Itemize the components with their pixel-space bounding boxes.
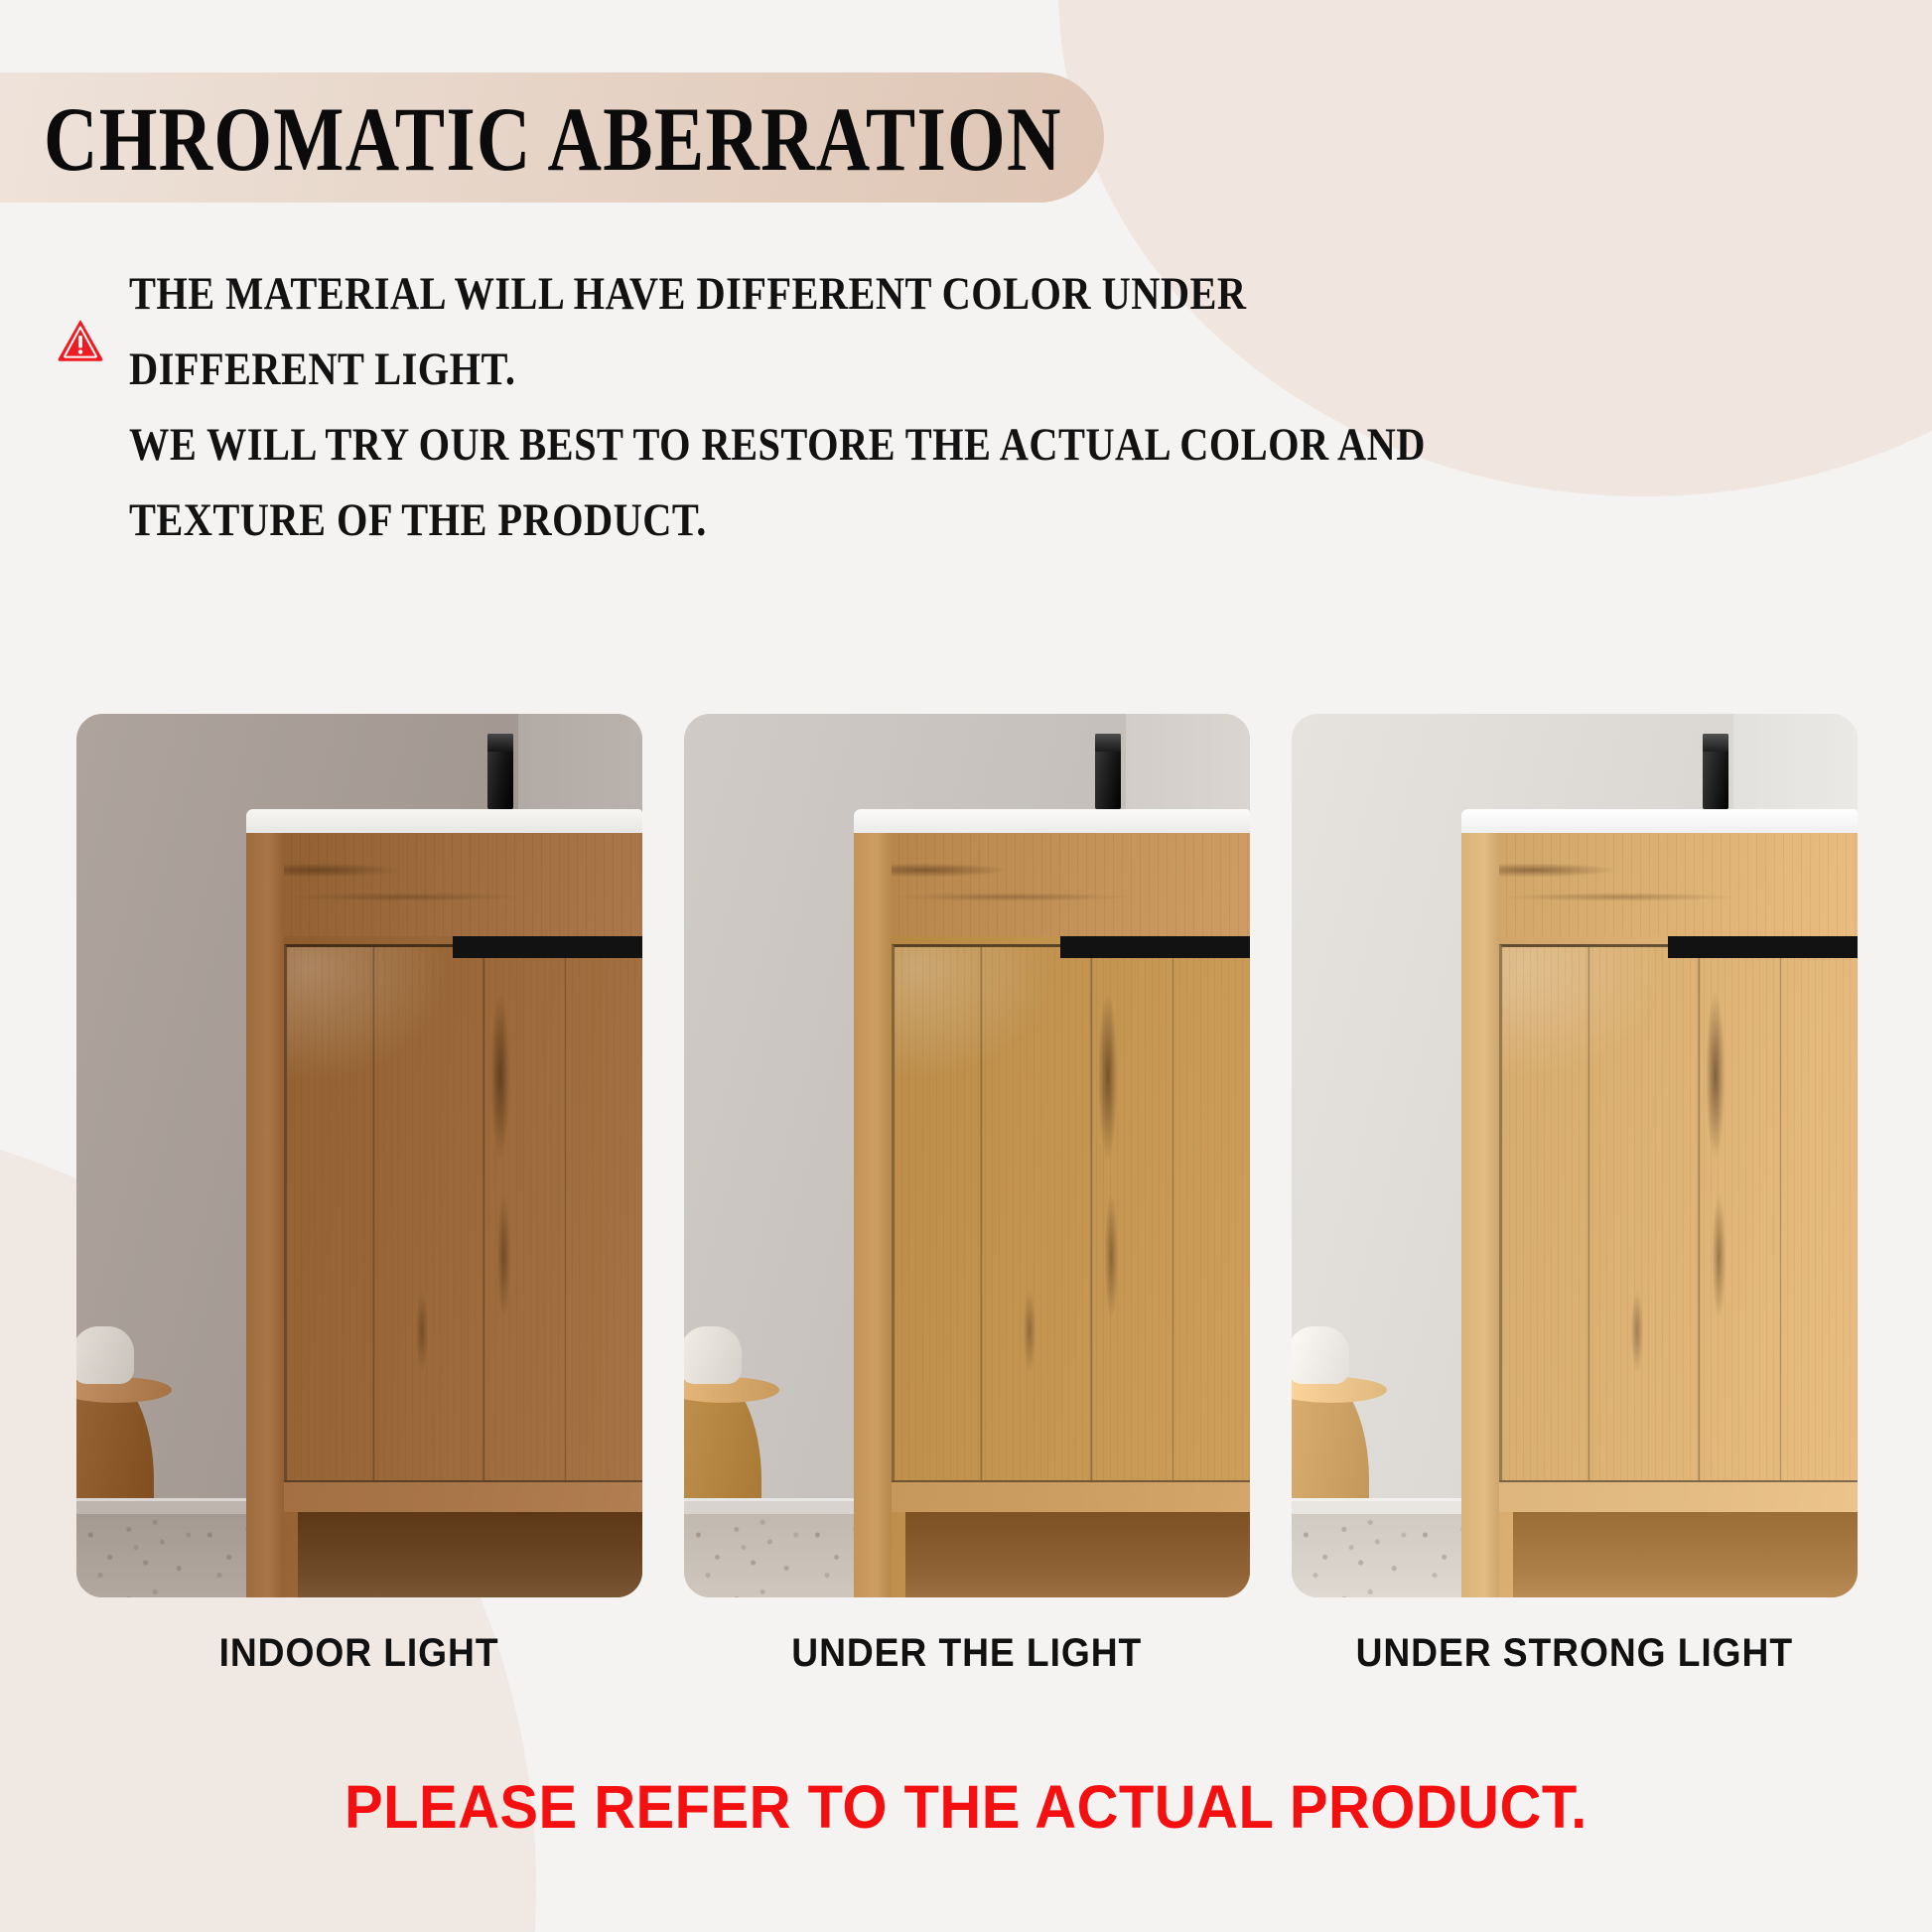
scene-faucet-head: [487, 734, 513, 752]
page-title: CHROMATIC ABERRATION: [44, 89, 1062, 189]
scene-cabinet-handle[interactable]: [1668, 936, 1858, 958]
scene-grain-door: [895, 947, 1250, 1480]
caption-under-strong-light: UNDER STRONG LIGHT: [1292, 1618, 1858, 1688]
scene-grain-top: [1461, 833, 1858, 936]
scene-cabinet-side-stile: [1461, 833, 1499, 1597]
notice-line-3: WE WILL TRY OUR BEST TO RESTORE THE ACTU…: [129, 407, 1179, 483]
scene-vanity-cabinet: [246, 833, 642, 1597]
scene-cabinet-handle[interactable]: [453, 936, 642, 958]
scene-cabinet-toe-kick: [1513, 1512, 1858, 1597]
footer-disclaimer: PLEASE REFER TO THE ACTUAL PRODUCT.: [0, 1764, 1932, 1850]
infographic-canvas: CHROMATIC ABERRATION THE MATERIAL WILL H…: [0, 0, 1932, 1932]
comparison-photo-strip: [76, 714, 1859, 1597]
scene-grain-top: [246, 833, 642, 936]
scene-cabinet-door: [1499, 944, 1858, 1480]
scene-countertop: [1461, 809, 1858, 833]
scene-countertop: [854, 809, 1250, 833]
scene-cabinet-top-rail: [1461, 833, 1858, 936]
scene-grain-top: [854, 833, 1250, 936]
notice-text: THE MATERIAL WILL HAVE DIFFERENT COLOR U…: [129, 256, 1350, 558]
scene-cabinet-toe-kick: [905, 1512, 1250, 1597]
scene-cabinet-handle[interactable]: [1060, 936, 1250, 958]
scene-grain-door: [1502, 947, 1858, 1480]
scene-cabinet-side-stile: [246, 833, 284, 1597]
scene-grain-door: [287, 947, 642, 1480]
scene-cabinet-top-rail: [854, 833, 1250, 936]
scene-cabinet-door: [284, 944, 642, 1480]
scene-vanity-cabinet: [1461, 833, 1858, 1597]
scene-toilet-tank: [1292, 1326, 1349, 1384]
scene-cabinet-toe-kick: [298, 1512, 642, 1597]
caption-indoor-light: INDOOR LIGHT: [76, 1618, 642, 1688]
scene-toilet-tank: [684, 1326, 742, 1384]
scene-countertop: [246, 809, 642, 833]
scene-vanity-cabinet: [854, 833, 1250, 1597]
scene-cabinet-top-rail: [246, 833, 642, 936]
warning-triangle-icon: [58, 320, 103, 361]
notice-line-2: DIFFERENT LIGHT.: [129, 332, 1179, 407]
scene-toilet-tank: [76, 1326, 134, 1384]
comparison-panel-under-the-light[interactable]: [684, 714, 1250, 1597]
caption-under-the-light: UNDER THE LIGHT: [684, 1618, 1250, 1688]
scene-faucet-head: [1095, 734, 1121, 752]
scene-cabinet-bottom-rail: [1499, 1480, 1858, 1512]
scene-cabinet-bottom-rail: [892, 1480, 1250, 1512]
comparison-panel-indoor-light[interactable]: [76, 714, 642, 1597]
notice-line-1: THE MATERIAL WILL HAVE DIFFERENT COLOR U…: [129, 256, 1179, 332]
scene-faucet-head: [1703, 734, 1728, 752]
scene-cabinet-side-stile: [854, 833, 892, 1597]
notice-line-4: TEXTURE OF THE PRODUCT.: [129, 483, 1179, 558]
scene-cabinet-bottom-rail: [284, 1480, 642, 1512]
scene-cabinet-door: [892, 944, 1250, 1480]
comparison-panel-under-strong-light[interactable]: [1292, 714, 1858, 1597]
comparison-caption-row: INDOOR LIGHT UNDER THE LIGHT UNDER STRON…: [76, 1618, 1859, 1688]
